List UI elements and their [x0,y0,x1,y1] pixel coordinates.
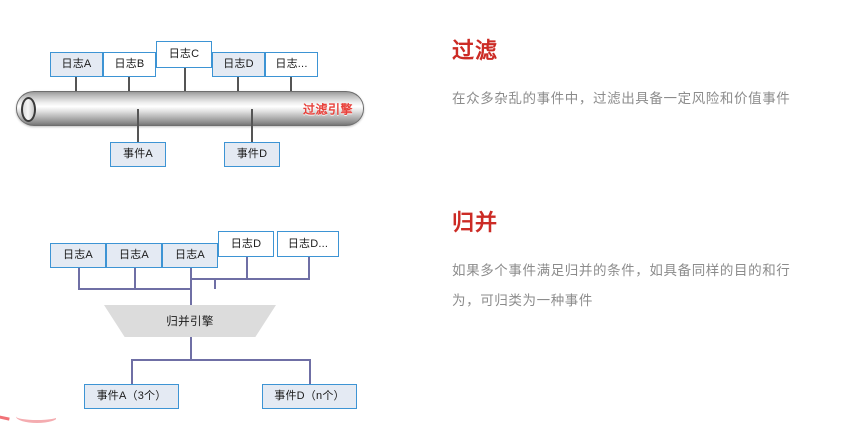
section-filter-body: 在众多杂乱的事件中，过滤出具备一定风险和价值事件 [452,84,802,114]
event-box-a[interactable]: 事件A [110,142,166,167]
merge-event-box-a[interactable]: 事件A（3个） [84,384,179,409]
merge-connector-a1-down [78,268,80,289]
log-box-more-label: 日志... [275,59,307,70]
section-merge-body: 如果多个事件满足归并的条件，如具备同样的目的和行为，可归类为一种事件 [452,256,802,316]
merge-engine-label: 归并引擎 [104,305,276,337]
merge-log-box-a3[interactable]: 日志A [162,243,218,268]
merge-log-box-a2-label: 日志A [119,250,149,261]
event-box-d[interactable]: 事件D [224,142,280,167]
log-box-d-label: 日志D [223,59,254,70]
log-box-more[interactable]: 日志... [265,52,318,77]
corner-ornament-stroke-2 [16,410,56,423]
merge-log-box-a1-label: 日志A [63,250,93,261]
merge-log-box-d2[interactable]: 日志D... [277,231,339,257]
merge-log-box-d1-label: 日志D [231,239,262,250]
log-box-c[interactable]: 日志C [156,41,212,68]
log-box-b-label: 日志B [115,59,145,70]
connector-event-d-down [251,109,253,142]
merge-connector-d1-down [246,257,248,279]
merge-connector-trunk-bus [78,288,192,290]
merge-log-box-d2-label: 日志D... [288,239,328,250]
event-box-d-label: 事件D [237,149,268,160]
pipe-opening-icon [21,97,36,122]
merge-output-left-down [131,359,133,384]
log-box-a[interactable]: 日志A [50,52,103,77]
merge-output-right-down [309,359,311,384]
connector-event-a-down [137,109,139,142]
merge-log-box-a1[interactable]: 日志A [50,243,106,268]
merge-output-trunk [190,337,192,360]
merge-connector-trunk-down [190,278,192,306]
log-box-b[interactable]: 日志B [103,52,156,77]
filter-engine-pipe: 过滤引擎 [16,91,364,126]
log-box-c-label: 日志C [169,49,200,60]
corner-ornament-icon [0,405,56,427]
corner-ornament-stroke-1 [0,405,13,421]
event-box-a-label: 事件A [123,149,153,160]
log-box-d[interactable]: 日志D [212,52,265,77]
section-merge: 归并 如果多个事件满足归并的条件，如具备同样的目的和行为，可归类为一种事件 [452,212,802,316]
merge-log-box-d1[interactable]: 日志D [218,231,274,257]
section-filter: 过滤 在众多杂乱的事件中，过滤出具备一定风险和价值事件 [452,40,802,114]
merge-connector-d2-down [308,257,310,279]
merge-event-box-a-label: 事件A（3个） [97,391,167,402]
merge-output-bus [131,359,311,361]
text-column: 过滤 在众多杂乱的事件中，过滤出具备一定风险和价值事件 归并 如果多个事件满足归… [452,0,832,427]
merge-log-box-a2[interactable]: 日志A [106,243,162,268]
merge-log-box-a3-label: 日志A [175,250,205,261]
section-merge-title: 归并 [452,212,802,234]
log-box-a-label: 日志A [62,59,92,70]
merge-connector-a2-down [134,268,136,289]
filter-engine-label: 过滤引擎 [303,100,353,117]
slide-canvas: 日志A 日志B 日志C 日志D 日志... [0,0,864,427]
merge-event-box-d-label: 事件D（n个） [274,391,344,402]
section-filter-title: 过滤 [452,40,802,62]
diagram-column: 日志A 日志B 日志C 日志D 日志... [0,0,420,427]
merge-engine-trapezoid: 归并引擎 [104,305,276,337]
merge-connector-d-bus [190,278,310,280]
merge-event-box-d[interactable]: 事件D（n个） [262,384,357,409]
